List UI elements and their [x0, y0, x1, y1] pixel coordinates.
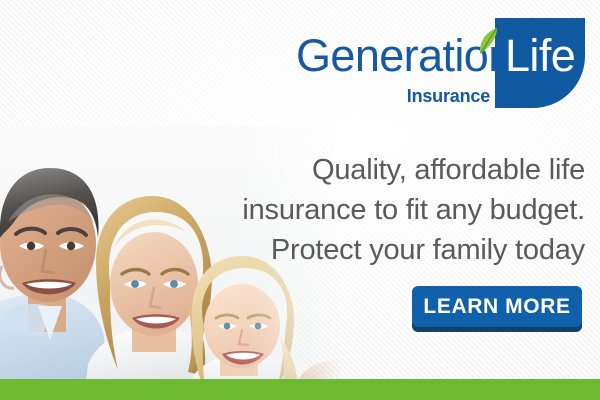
headline: Quality, affordable life insurance to fi…	[160, 150, 585, 270]
advertisement-banner: Generation Life Insurance Quality, affor…	[0, 0, 600, 400]
learn-more-button[interactable]: LEARN MORE	[412, 286, 582, 327]
headline-line-2: insurance to fit any budget.	[160, 190, 585, 230]
leaf-icon	[478, 27, 500, 57]
logo-subtitle-insurance: Insurance	[300, 86, 490, 107]
logo-word-life: Life	[505, 33, 575, 78]
green-footer-bar-photo-overlay	[0, 379, 352, 400]
headline-line-3: Protect your family today	[160, 230, 585, 270]
headline-line-1: Quality, affordable life	[160, 150, 585, 190]
